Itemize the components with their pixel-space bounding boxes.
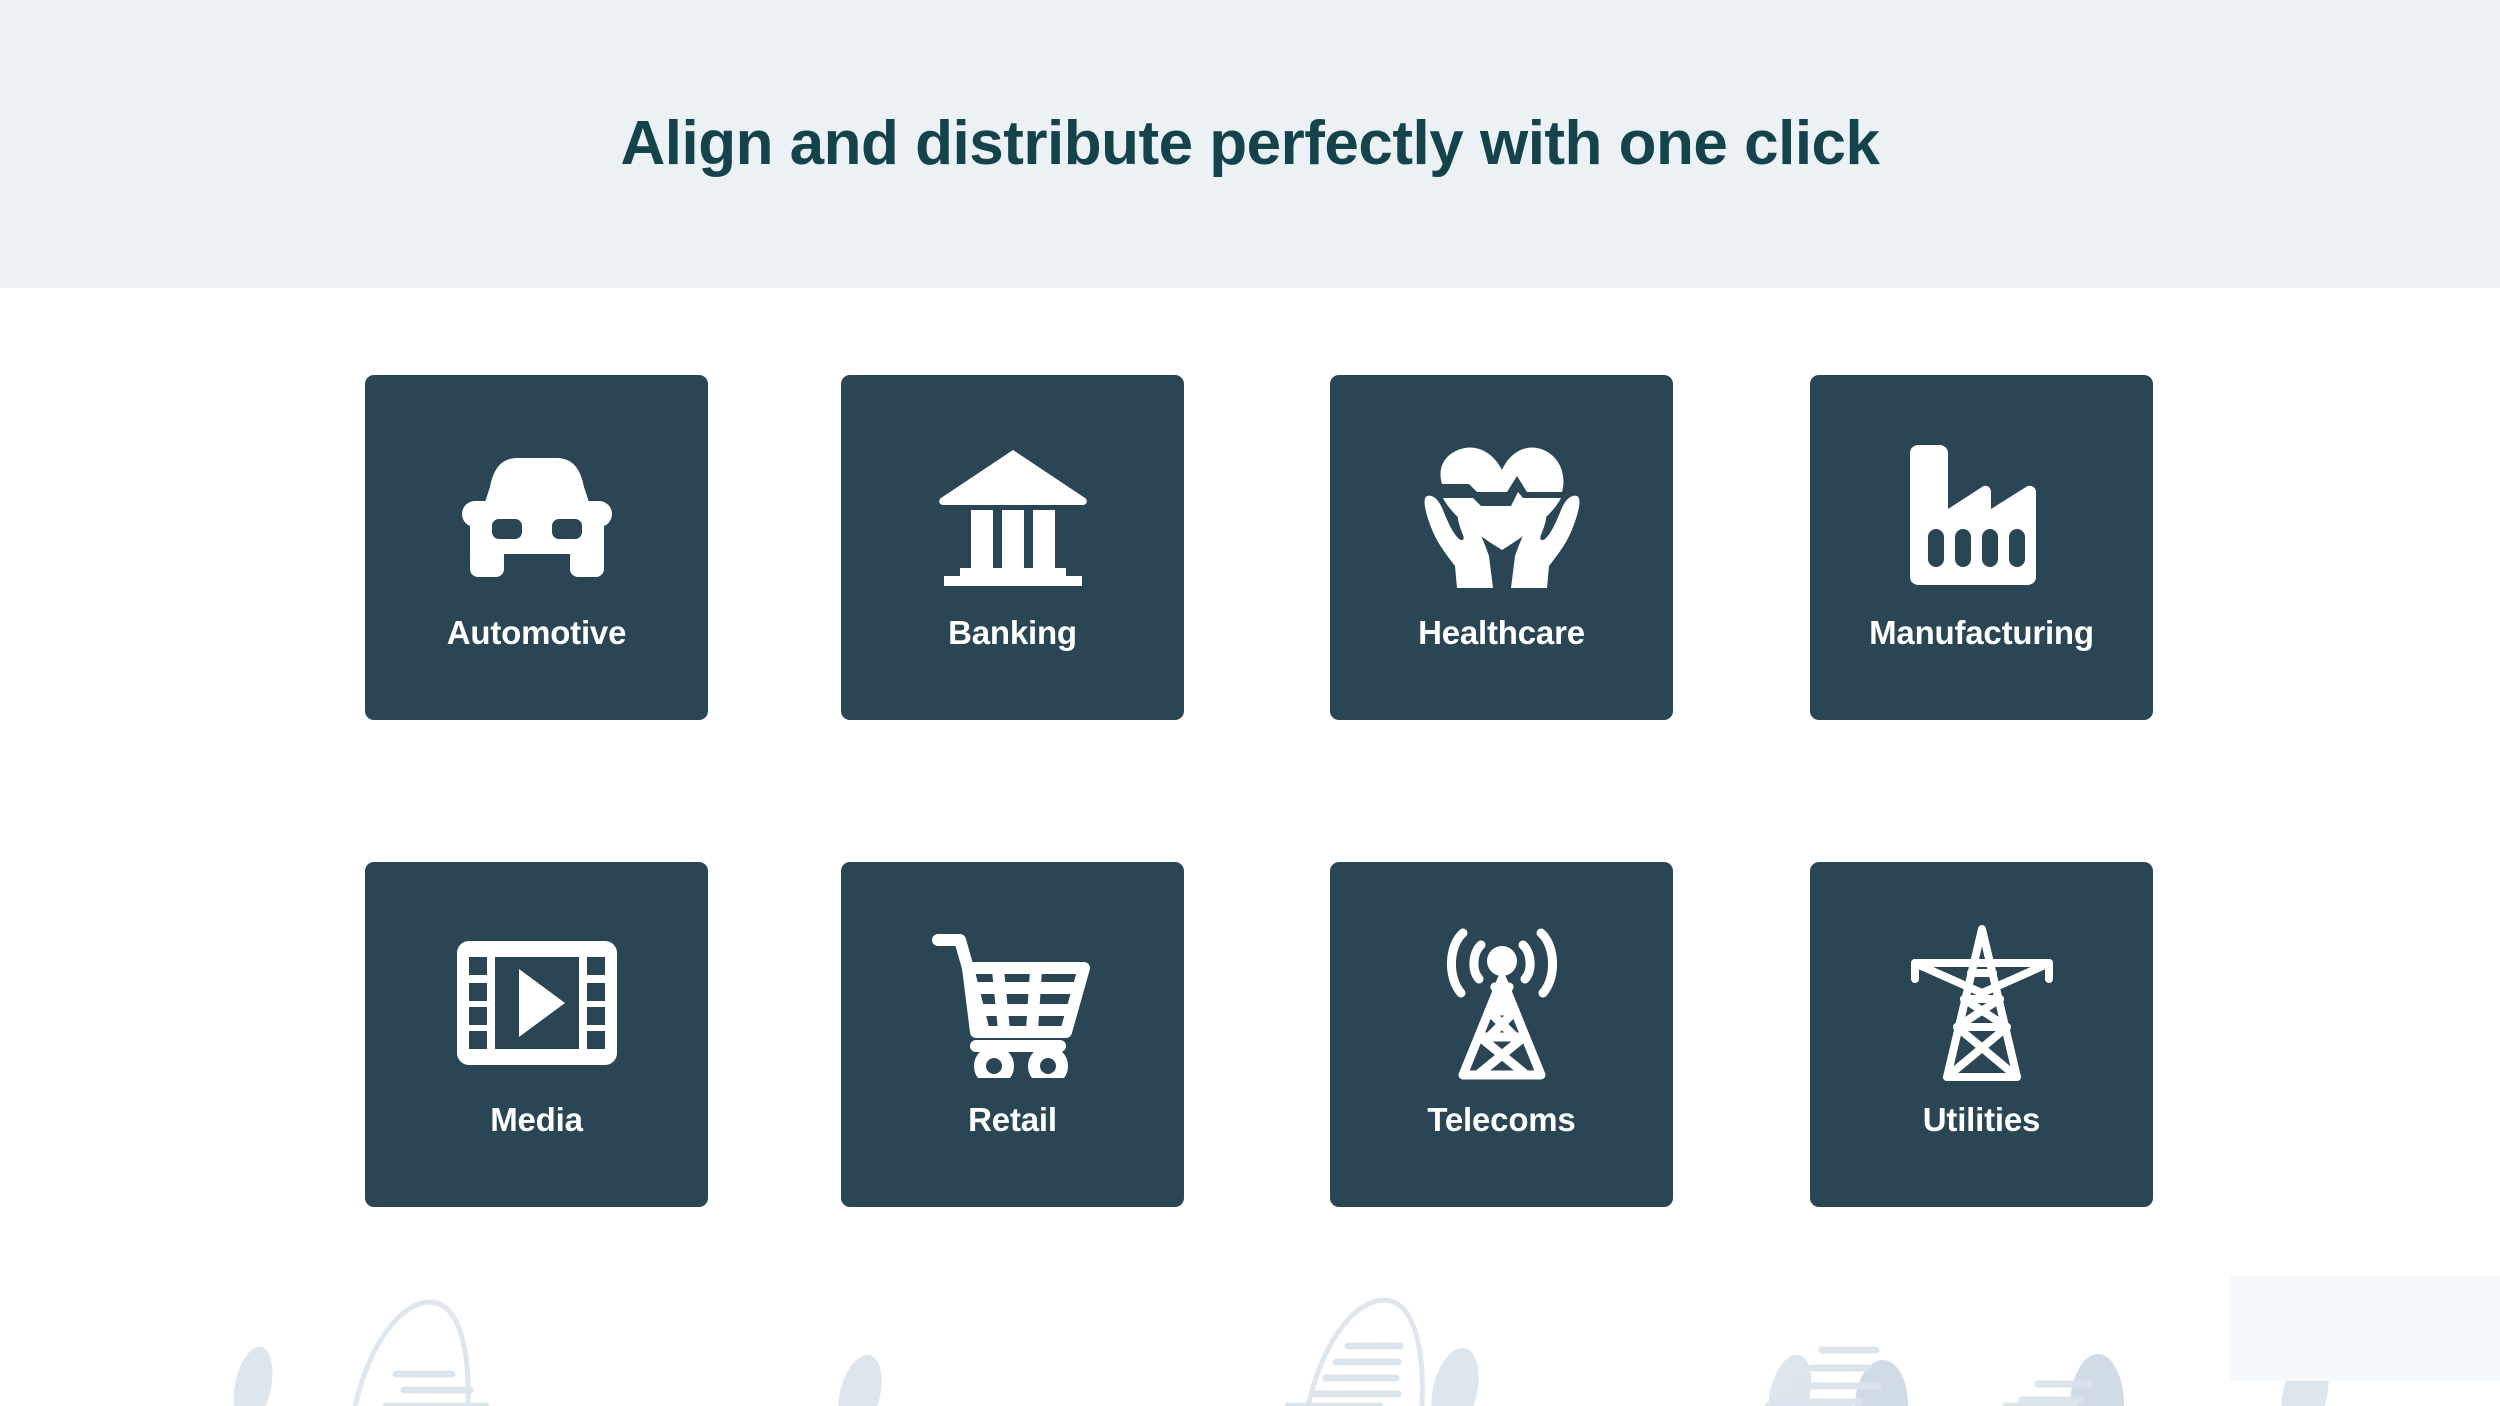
header-band: Align and distribute perfectly with one … <box>0 0 2500 288</box>
card-label: Utilities <box>1923 1103 2040 1136</box>
power-pylon-icon <box>1897 920 2067 1085</box>
industry-card-manufacturing[interactable]: Manufacturing <box>1810 375 2153 720</box>
industry-card-automotive[interactable]: Automotive <box>365 375 708 720</box>
industry-card-healthcare[interactable]: Healthcare <box>1330 375 1673 720</box>
card-label: Media <box>490 1103 583 1136</box>
shopping-cart-icon <box>928 920 1098 1085</box>
industry-card-telecoms[interactable]: Telecoms <box>1330 862 1673 1207</box>
card-label: Automotive <box>447 616 627 649</box>
card-label: Manufacturing <box>1869 616 2094 649</box>
bank-icon <box>928 433 1098 598</box>
card-label: Retail <box>968 1103 1057 1136</box>
factory-icon <box>1897 433 2067 598</box>
card-label: Banking <box>948 616 1077 649</box>
industry-card-media[interactable]: Media <box>365 862 708 1207</box>
industry-card-utilities[interactable]: Utilities <box>1810 862 2153 1207</box>
card-label: Healthcare <box>1418 616 1585 649</box>
industry-card-banking[interactable]: Banking <box>841 375 1184 720</box>
radio-tower-icon <box>1417 920 1587 1085</box>
card-label: Telecoms <box>1427 1103 1575 1136</box>
car-icon <box>452 433 622 598</box>
industry-card-grid: Automotive Banking <box>0 288 2500 1406</box>
page-title: Align and distribute perfectly with one … <box>620 113 1879 175</box>
film-play-icon <box>452 920 622 1085</box>
industry-card-retail[interactable]: Retail <box>841 862 1184 1207</box>
heart-in-hands-icon <box>1417 433 1587 598</box>
